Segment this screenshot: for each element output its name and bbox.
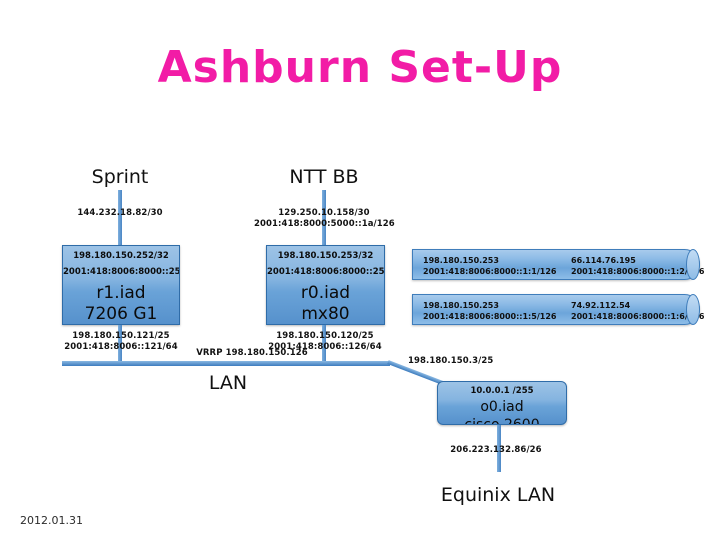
link-label-ntt-v6: 2001:418:8000:5000::1a/126 xyxy=(254,219,394,230)
lan-label: LAN xyxy=(158,372,298,394)
device-o0-model: cisco 2600 xyxy=(438,416,566,425)
tunnel-1-remote-v6: 2001:418:8006:8000::1:2/126 xyxy=(571,266,704,277)
device-r1-name: r1.iad xyxy=(63,278,179,304)
device-r1-model: 7206 G1 xyxy=(63,304,179,325)
link-label-sprint-v4: 144.232.18.82/30 xyxy=(50,208,190,219)
device-o0-head-v4: 10.0.0.1 /255 xyxy=(438,382,566,397)
device-r0-head-v6: 2001:418:8006:8000::253/128 xyxy=(267,262,384,278)
device-box-r0-iad[interactable]: 198.180.150.253/32 2001:418:8006:8000::2… xyxy=(266,245,385,325)
link-label-r0-lan-v4: 198.180.150.120/25 xyxy=(252,331,398,342)
tunnel-cylinder-1[interactable]: 198.180.150.253 2001:418:8006:8000::1:1/… xyxy=(412,249,700,280)
provider-label-ntt: NTT BB xyxy=(264,166,384,188)
device-r1-head-v4: 198.180.150.252/32 xyxy=(63,246,179,262)
slide-canvas: Ashburn Set-Up Sprint 144.232.18.82/30 N… xyxy=(0,0,720,540)
device-r0-name: r0.iad xyxy=(267,278,384,304)
link-label-ntt-v4: 129.250.10.158/30 xyxy=(254,208,394,219)
link-label-equinix: 206.223.132.86/26 xyxy=(426,445,566,456)
tunnel-2-remote-v4: 74.92.112.54 xyxy=(571,300,630,311)
device-box-o0-iad[interactable]: 10.0.0.1 /255 o0.iad cisco 2600 xyxy=(437,381,567,425)
tunnel-1-local-v4: 198.180.150.253 xyxy=(423,255,499,266)
device-box-r1-iad[interactable]: 198.180.150.252/32 2001:418:8006:8000::2… xyxy=(62,245,180,325)
provider-label-sprint: Sprint xyxy=(60,166,180,188)
tunnel-cylinder-2[interactable]: 198.180.150.253 2001:418:8006:8000::1:5/… xyxy=(412,294,700,325)
device-o0-name: o0.iad xyxy=(438,397,566,416)
page-title: Ashburn Set-Up xyxy=(0,42,720,93)
link-label-o0-lan: 198.180.150.3/25 xyxy=(408,356,528,367)
device-r0-head-v4: 198.180.150.253/32 xyxy=(267,246,384,262)
device-r0-model: mx80 xyxy=(267,304,384,325)
tunnel-1-local-v6: 2001:418:8006:8000::1:1/126 xyxy=(423,266,556,277)
device-r1-head-v6: 2001:418:8006:8000::252/128 xyxy=(63,262,179,278)
tunnel-1-remote-v4: 66.114.76.195 xyxy=(571,255,636,266)
provider-label-equinix: Equinix LAN xyxy=(428,484,568,506)
lan-vrrp-label: VRRP 198.180.150.126 xyxy=(172,348,332,359)
link-label-r1-lan-v4: 198.180.150.121/25 xyxy=(48,331,194,342)
tunnel-2-remote-v6: 2001:418:8006:8000::1:6/126 xyxy=(571,311,704,322)
lan-backbone-line xyxy=(62,361,390,366)
footer-date: 2012.01.31 xyxy=(20,514,83,527)
tunnel-2-local-v4: 198.180.150.253 xyxy=(423,300,499,311)
tunnel-2-local-v6: 2001:418:8006:8000::1:5/126 xyxy=(423,311,556,322)
